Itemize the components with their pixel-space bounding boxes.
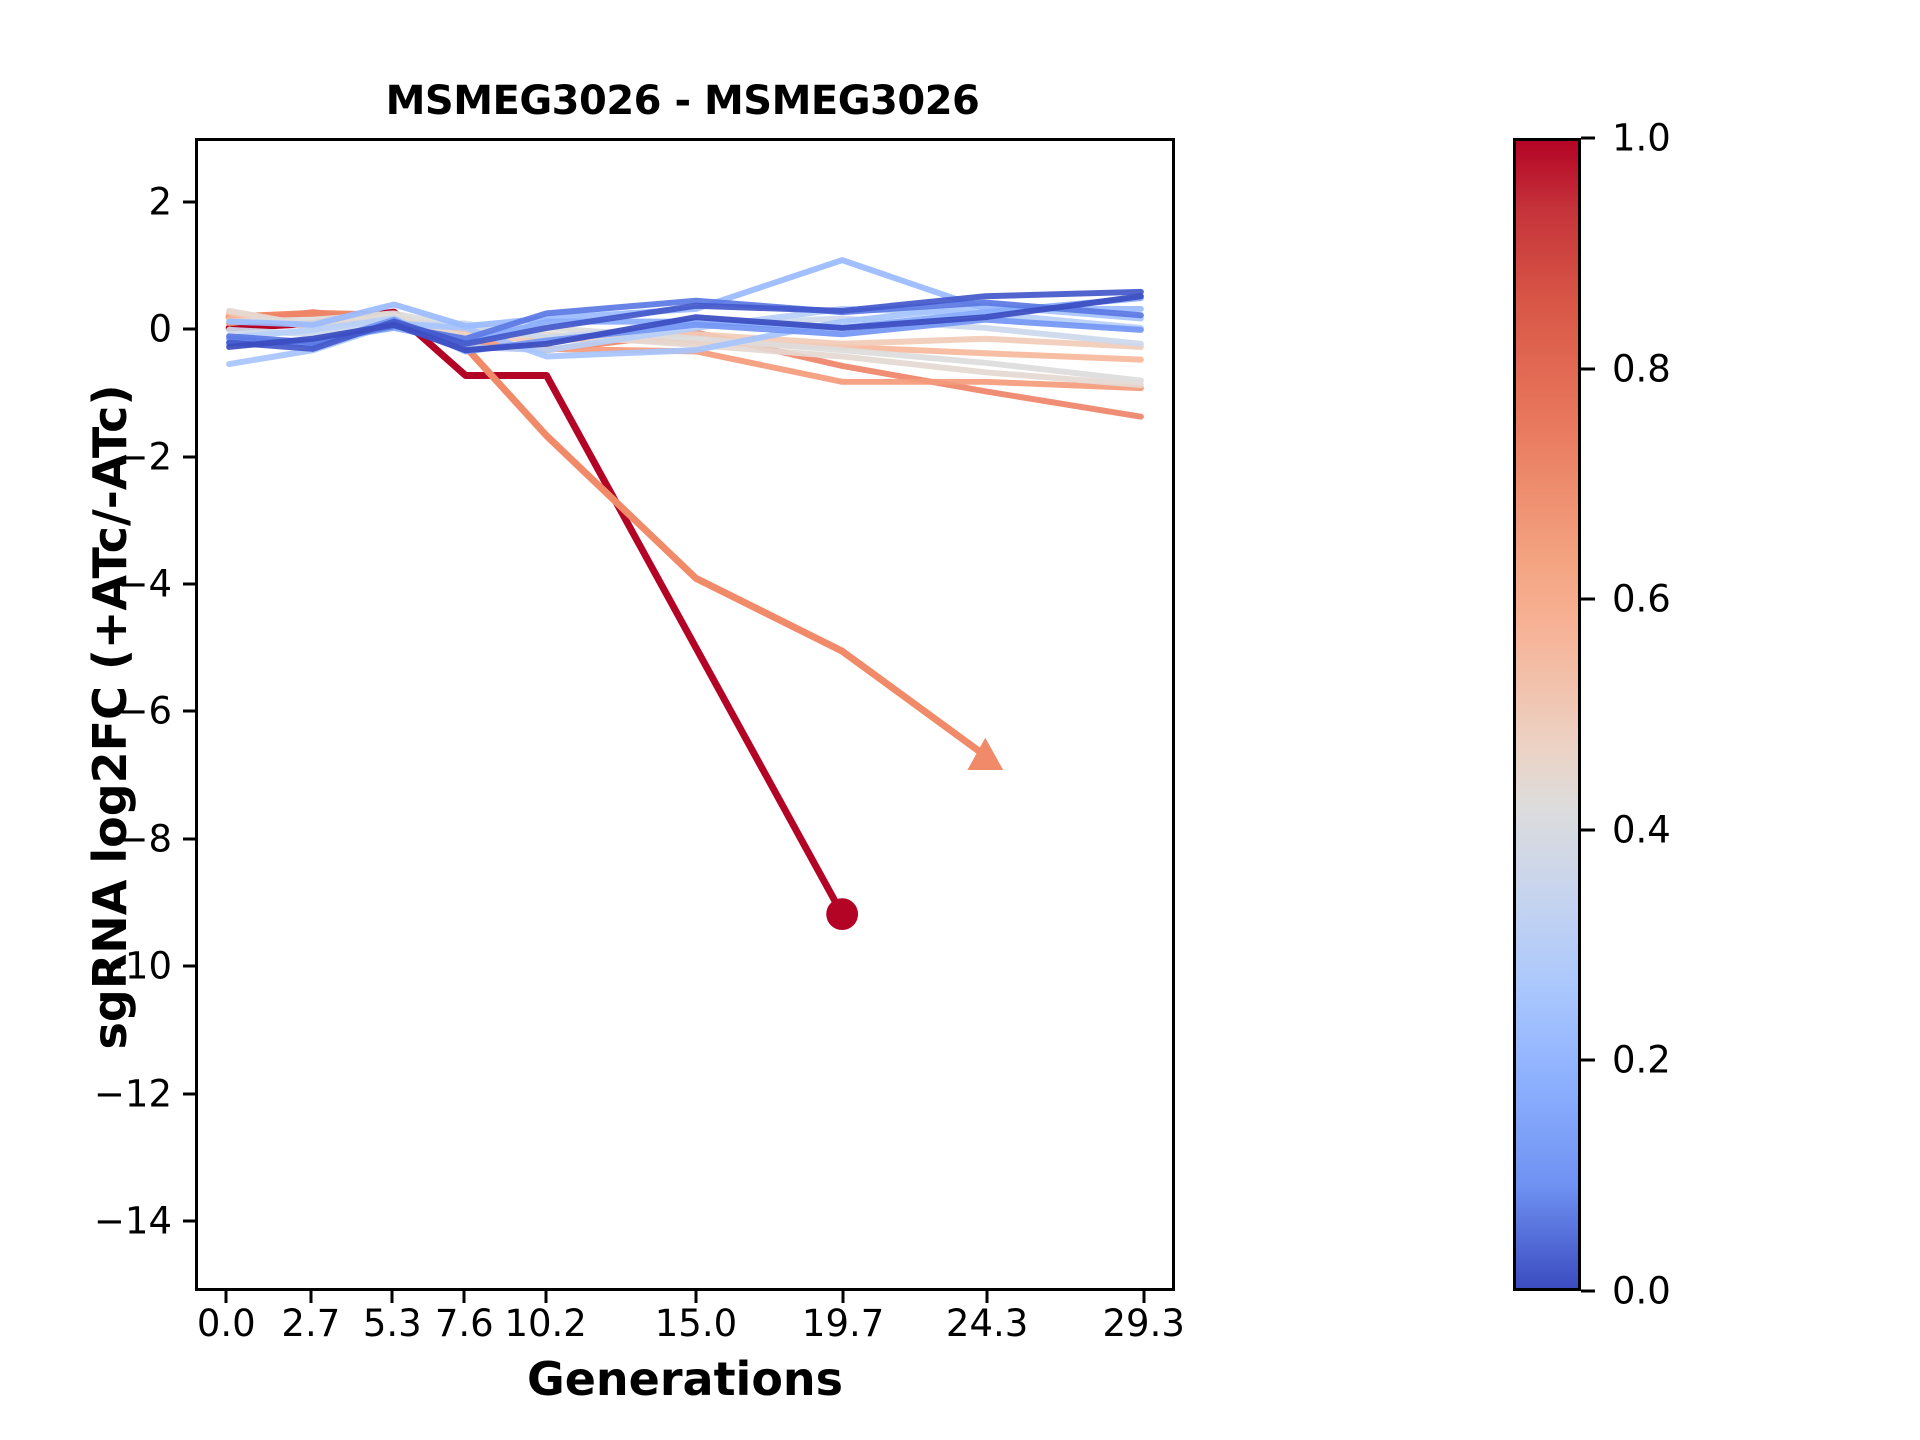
- x-axis-tick-label: 10.2: [504, 1302, 586, 1345]
- x-axis-tick-mark: [309, 1291, 312, 1303]
- y-axis-tick-label: −2: [117, 435, 172, 478]
- x-axis-tick-mark: [1142, 1291, 1145, 1303]
- colorbar-tick-mark: [1581, 367, 1595, 370]
- colorbar-tick-mark: [1581, 137, 1595, 140]
- y-axis-tick-label: −6: [117, 690, 172, 733]
- x-axis-tick-label: 24.3: [946, 1302, 1028, 1345]
- x-axis-tick-label: 19.7: [802, 1302, 884, 1345]
- x-axis-label: Generations: [195, 1352, 1175, 1406]
- colorbar-tick-label: 0.0: [1612, 1270, 1671, 1313]
- x-axis-tick-mark: [986, 1291, 989, 1303]
- x-axis-tick-label: 29.3: [1102, 1302, 1184, 1345]
- plot-svg: [198, 141, 1172, 1288]
- colorbar-gradient: [1513, 138, 1581, 1291]
- x-axis-tick-mark: [391, 1291, 394, 1303]
- y-axis-tick-label: −8: [117, 817, 172, 860]
- x-axis-tick-mark: [842, 1291, 845, 1303]
- y-axis-tick-mark: [183, 1092, 195, 1095]
- y-axis-tick-label: 0: [148, 308, 172, 351]
- x-axis-tick-mark: [463, 1291, 466, 1303]
- x-axis-tick-label: 5.3: [363, 1302, 422, 1345]
- colorbar-tick-mark: [1581, 1290, 1595, 1293]
- x-axis-tick-mark: [225, 1291, 228, 1303]
- colorbar-tick-mark: [1581, 1059, 1595, 1062]
- series-line: [229, 312, 842, 914]
- plot-area: [195, 138, 1175, 1291]
- colorbar-tick-label: 0.4: [1612, 808, 1671, 851]
- x-axis-tick-label: 2.7: [281, 1302, 340, 1345]
- y-axis-tick-label: −14: [94, 1199, 172, 1242]
- y-axis-tick-mark: [183, 328, 195, 331]
- colorbar-tick-label: 0.6: [1612, 578, 1671, 621]
- y-axis-tick-mark: [183, 710, 195, 713]
- y-axis-tick-mark: [183, 200, 195, 203]
- x-axis-tick-label: 7.6: [435, 1302, 494, 1345]
- y-axis-tick-label: −12: [94, 1072, 172, 1115]
- y-axis-tick-label: −10: [94, 945, 172, 988]
- y-axis-tick-label: −4: [117, 562, 172, 605]
- x-axis-tick-mark: [544, 1291, 547, 1303]
- colorbar-tick-mark: [1581, 828, 1595, 831]
- y-axis-tick-mark: [183, 455, 195, 458]
- colorbar-tick-label: 0.8: [1612, 347, 1671, 390]
- x-axis-tick-label: 15.0: [655, 1302, 737, 1345]
- colorbar-tick-label: 1.0: [1612, 117, 1671, 160]
- y-axis-tick-mark: [183, 1219, 195, 1222]
- chart-title: MSMEG3026 - MSMEG3026: [190, 78, 1175, 124]
- y-axis-tick-mark: [183, 965, 195, 968]
- x-axis-tick-label: 0.0: [197, 1302, 256, 1345]
- colorbar-tick-mark: [1581, 598, 1595, 601]
- y-axis-tick-mark: [183, 582, 195, 585]
- y-axis-tick-label: 2: [148, 180, 172, 223]
- series-endpoint-circle-marker: [826, 898, 858, 930]
- y-axis-tick-mark: [183, 837, 195, 840]
- colorbar-tick-label: 0.2: [1612, 1039, 1671, 1082]
- figure-canvas: MSMEG3026 - MSMEG3026 Generations sgRNA …: [0, 0, 1920, 1440]
- x-axis-tick-mark: [694, 1291, 697, 1303]
